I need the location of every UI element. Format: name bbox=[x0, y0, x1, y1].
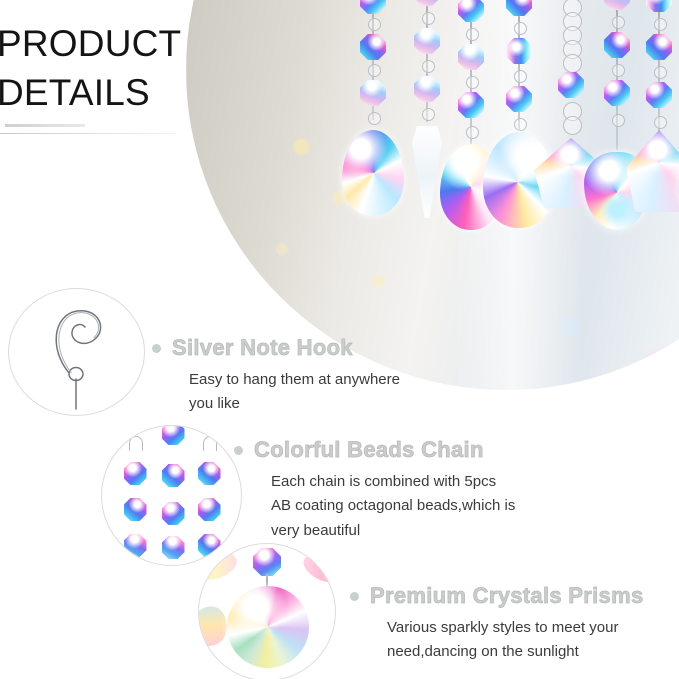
feature-heading-label: Premium Crystals Prisms bbox=[370, 583, 643, 609]
colorful-beads-chain-text: Colorful Beads Chain Each chain is combi… bbox=[234, 437, 515, 543]
bullet-dot-icon bbox=[234, 446, 243, 455]
crystal-strand bbox=[502, 0, 536, 310]
crystal-strand bbox=[454, 0, 488, 310]
feature-heading-label: Colorful Beads Chain bbox=[254, 437, 484, 463]
product-details-page: PRODUCT DETAILS Silver Note Hook Easy t bbox=[0, 0, 679, 679]
crystal-strand bbox=[600, 0, 634, 310]
hero-crystal-photo bbox=[186, 0, 679, 390]
hook-illustration-svg bbox=[9, 289, 144, 415]
octagonal-bead bbox=[253, 548, 281, 576]
decorative-petal bbox=[198, 545, 240, 584]
crystal-strand bbox=[554, 0, 588, 310]
octagonal-bead-chain-icon bbox=[101, 425, 242, 566]
feature-body-text: Each chain is combined with 5pcs AB coat… bbox=[271, 470, 515, 543]
crystal-strand bbox=[410, 0, 444, 310]
crystal-strand bbox=[356, 0, 390, 310]
page-title: PRODUCT DETAILS bbox=[0, 20, 227, 118]
silver-spiral-hook-icon bbox=[8, 288, 145, 416]
bead-wire bbox=[266, 574, 268, 600]
crystal-ball bbox=[227, 586, 309, 668]
decorative-petal bbox=[198, 602, 231, 650]
bullet-dot-icon bbox=[152, 344, 161, 353]
crystal-strand bbox=[642, 0, 676, 310]
feature-heading: Colorful Beads Chain bbox=[234, 437, 515, 463]
feature-body-text: Various sparkly styles to meet your need… bbox=[387, 616, 643, 665]
title-divider-thick bbox=[5, 124, 85, 127]
bullet-dot-icon bbox=[350, 592, 359, 601]
premium-crystals-prisms-text: Premium Crystals Prisms Various sparkly … bbox=[350, 583, 643, 665]
title-divider-thin bbox=[0, 133, 176, 134]
feature-heading: Premium Crystals Prisms bbox=[350, 583, 643, 609]
faceted-crystal-ball-icon bbox=[198, 543, 336, 679]
decorative-petal bbox=[299, 546, 336, 588]
